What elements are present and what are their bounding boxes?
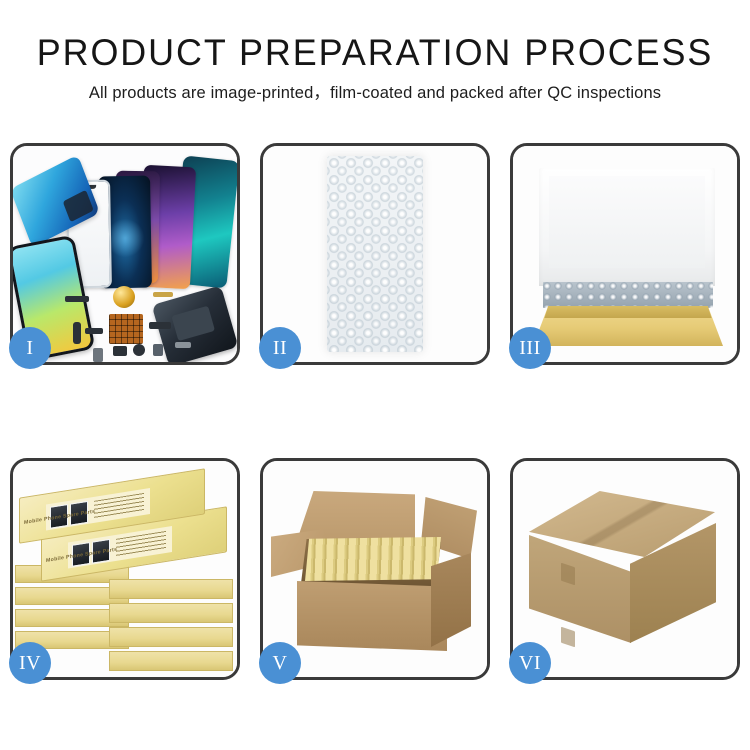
panel-6-image — [513, 461, 737, 677]
process-panel-1[interactable]: I — [10, 143, 240, 365]
process-panel-2[interactable]: II — [260, 143, 490, 365]
spare-part — [73, 322, 81, 344]
process-panel-4[interactable]: Mobile Phone Spare Parts Mobile Phone Sp… — [10, 458, 240, 680]
page-title: PRODUCT PREPARATION PROCESS — [11, 34, 739, 71]
spare-part — [149, 322, 171, 329]
carton-tape-mark — [561, 627, 575, 648]
panel-5-image — [263, 461, 487, 677]
panel-badge-1: I — [9, 327, 51, 369]
spare-part — [153, 344, 163, 356]
panel-badge-5: V — [259, 642, 301, 684]
retail-boxes-inside — [305, 537, 441, 581]
process-panel-5[interactable]: V — [260, 458, 490, 680]
panel-badge-2: II — [259, 327, 301, 369]
spare-part — [113, 346, 127, 356]
box-lid — [539, 168, 715, 286]
stacked-box — [109, 603, 233, 623]
spare-part — [133, 344, 145, 356]
panel-badge-3: III — [509, 327, 551, 369]
spare-part — [93, 348, 103, 362]
carton-front-face — [297, 581, 447, 651]
carton-side-face — [431, 553, 471, 647]
process-panel-6[interactable]: VI — [510, 458, 740, 680]
spare-part — [175, 342, 191, 348]
spare-part — [153, 292, 173, 297]
panel-3-image — [513, 146, 737, 362]
process-panel-3[interactable]: III — [510, 143, 740, 365]
panel-badge-6: VI — [509, 642, 551, 684]
stacked-box — [109, 579, 233, 599]
retail-box-stack: Mobile Phone Spare Parts Mobile Phone Sp… — [13, 461, 237, 677]
spare-part — [85, 328, 103, 334]
panel-1-image — [13, 146, 237, 362]
label-spec-lines — [94, 493, 144, 520]
stacked-box — [109, 627, 233, 647]
gold-coil-part — [113, 286, 135, 308]
process-panel-grid: I II III — [10, 143, 740, 680]
bubble-wrap-sheet — [327, 156, 423, 352]
page-subtitle: All products are image-printed，film-coat… — [0, 85, 750, 102]
copper-mesh-part — [109, 314, 143, 344]
spare-part — [65, 296, 89, 302]
panel-2-image — [263, 146, 487, 362]
stacked-box — [109, 651, 233, 671]
box-label-card — [46, 488, 150, 530]
panel-badge-4: IV — [9, 642, 51, 684]
bubble-wrap-filling — [543, 282, 713, 308]
panel-4-image: Mobile Phone Spare Parts Mobile Phone Sp… — [13, 461, 237, 677]
carton-left-face — [529, 535, 631, 643]
page-header: PRODUCT PREPARATION PROCESS All products… — [0, 0, 750, 102]
kraft-box-rim — [533, 306, 723, 318]
label-spec-lines — [116, 531, 166, 558]
